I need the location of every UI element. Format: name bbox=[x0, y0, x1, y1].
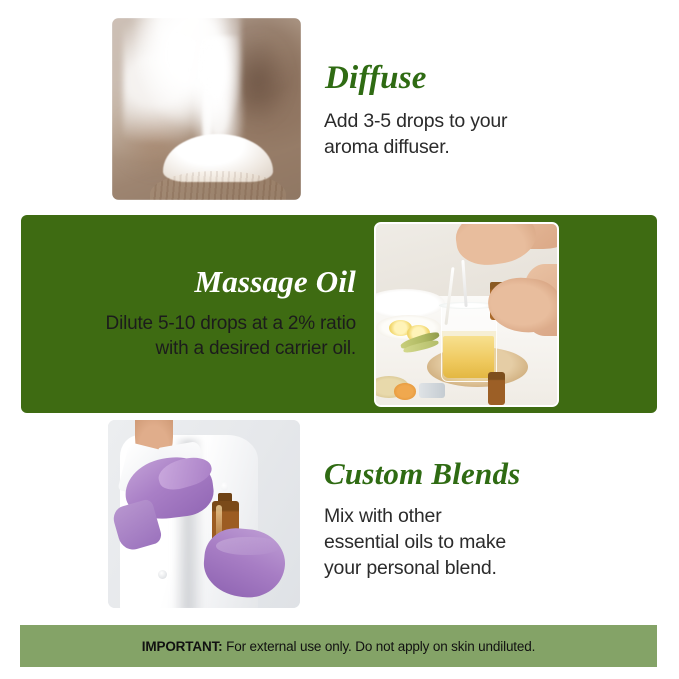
section-body-massage-oil: Dilute 5-10 drops at a 2% ratio with a d… bbox=[36, 311, 356, 362]
blends-body-line-1: Mix with other bbox=[324, 503, 634, 529]
section-heading-custom-blends: Custom Blends bbox=[324, 458, 520, 489]
massage-body-line-2: with a desired carrier oil. bbox=[36, 336, 356, 361]
important-notice-body: For external use only. Do not apply on s… bbox=[223, 639, 536, 654]
section-body-custom-blends: Mix with other essential oils to make yo… bbox=[324, 503, 634, 581]
section-heading-massage-oil: Massage Oil bbox=[40, 266, 356, 297]
blends-body-line-2: essential oils to make bbox=[324, 529, 634, 555]
diffuse-body-line-2: aroma diffuser. bbox=[324, 134, 624, 160]
important-notice-label: IMPORTANT: bbox=[142, 639, 223, 654]
important-notice-banner: IMPORTANT: For external use only. Do not… bbox=[20, 625, 657, 667]
section-heading-diffuse: Diffuse bbox=[325, 62, 427, 95]
massage-body-line-1: Dilute 5-10 drops at a 2% ratio bbox=[36, 311, 356, 336]
infographic-canvas: Diffuse Add 3-5 drops to your aroma diff… bbox=[0, 0, 679, 679]
diffuser-photo-content bbox=[112, 18, 301, 200]
blends-body-line-3: your personal blend. bbox=[324, 555, 634, 581]
section-body-diffuse: Add 3-5 drops to your aroma diffuser. bbox=[324, 108, 624, 160]
aroma-diffuser-photo bbox=[112, 18, 301, 200]
gloved-hands-bottle-photo bbox=[108, 420, 300, 608]
massage-photo-content bbox=[376, 224, 557, 405]
blends-photo-content bbox=[108, 420, 300, 608]
carrier-oil-dropper-photo bbox=[374, 222, 559, 407]
diffuse-body-line-1: Add 3-5 drops to your bbox=[324, 108, 624, 134]
important-notice-text: IMPORTANT: For external use only. Do not… bbox=[142, 639, 535, 654]
